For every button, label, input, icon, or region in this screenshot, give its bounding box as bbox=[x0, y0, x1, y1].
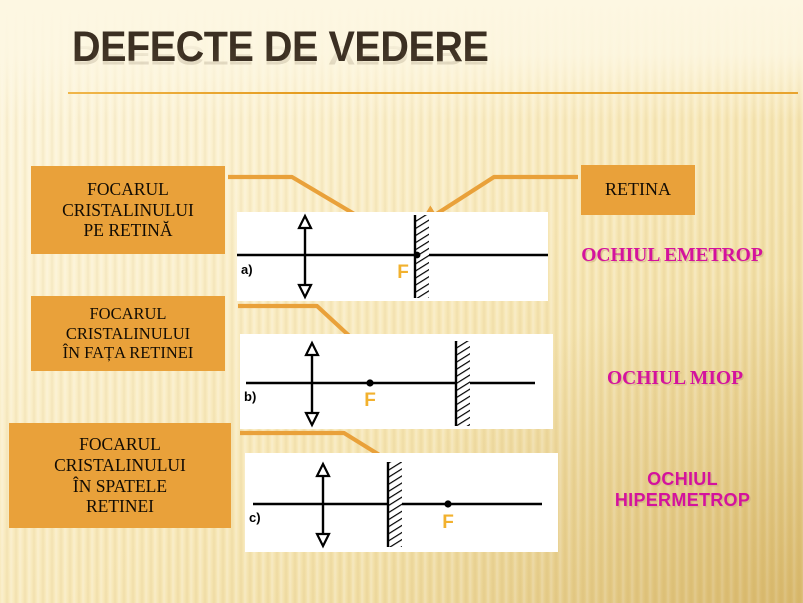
diagram-panel-hyperopic: F c) bbox=[245, 453, 558, 552]
label-emmetropic-eye: OCHIUL EMETROP bbox=[548, 244, 796, 267]
label-myopic-eye: OCHIUL MIOP bbox=[555, 367, 795, 390]
caption-line: CRISTALINULUI bbox=[54, 455, 186, 476]
caption-retina[interactable]: RETINA bbox=[581, 165, 695, 215]
retina-plane bbox=[456, 341, 470, 426]
lens-arrowhead-bottom bbox=[306, 413, 318, 425]
focal-point bbox=[414, 252, 421, 259]
focal-point bbox=[366, 379, 373, 386]
slide-title-block: DEFECTE DE VEDERE DEFECTE DE VEDERE bbox=[72, 22, 732, 94]
label-line: HIPERMETROP bbox=[570, 490, 795, 511]
caption-line: FOCARUL bbox=[89, 304, 166, 323]
focal-point-label: F bbox=[364, 390, 376, 411]
lens-arrowhead-top bbox=[299, 216, 311, 228]
label-hyperopic-eye: OCHIUL HIPERMETROP bbox=[570, 469, 795, 511]
panel-index-label: b) bbox=[244, 389, 256, 404]
retina-plane bbox=[388, 462, 402, 547]
caption-line: FOCARUL bbox=[79, 434, 161, 455]
caption-line: ÎN FAȚA RETINEI bbox=[63, 343, 194, 362]
caption-line: CRISTALINULUI bbox=[62, 200, 194, 221]
label-line: OCHIUL EMETROP bbox=[548, 244, 796, 267]
label-line: OCHIUL bbox=[570, 469, 795, 490]
lens-arrowhead-top bbox=[317, 464, 329, 476]
panel-index-label: c) bbox=[249, 510, 261, 525]
lens-arrowhead-bottom bbox=[317, 534, 329, 546]
caption-line: ÎN SPATELE bbox=[73, 476, 167, 497]
caption-line: RETINA bbox=[605, 179, 671, 200]
caption-line: RETINEI bbox=[86, 496, 154, 517]
diagram-panel-myopic: F b) bbox=[240, 334, 553, 429]
caption-focus-behind-retina[interactable]: FOCARUL CRISTALINULUI ÎN SPATELE RETINEI bbox=[9, 423, 231, 528]
background-corner-shading bbox=[373, 273, 803, 603]
focal-point-label: F bbox=[442, 512, 454, 533]
title-divider-rule bbox=[68, 92, 798, 94]
caption-line: PE RETINĂ bbox=[84, 220, 173, 241]
caption-line: FOCARUL bbox=[87, 179, 169, 200]
diagram-panel-emmetropic: F a) bbox=[237, 212, 548, 301]
caption-focus-on-retina[interactable]: FOCARUL CRISTALINULUI PE RETINĂ bbox=[31, 166, 225, 254]
caption-focus-in-front-of-retina[interactable]: FOCARUL CRISTALINULUI ÎN FAȚA RETINEI bbox=[31, 296, 225, 371]
focal-point-label: F bbox=[397, 262, 409, 283]
slide-canvas: DEFECTE DE VEDERE DEFECTE DE VEDERE FOCA… bbox=[0, 0, 803, 603]
lens-arrowhead-bottom bbox=[299, 285, 311, 297]
label-line: OCHIUL MIOP bbox=[555, 367, 795, 390]
caption-line: CRISTALINULUI bbox=[66, 324, 190, 343]
lens-arrowhead-top bbox=[306, 343, 318, 355]
panel-index-label: a) bbox=[241, 262, 253, 277]
focal-point bbox=[444, 500, 451, 507]
page-title: DEFECTE DE VEDERE bbox=[72, 22, 679, 72]
